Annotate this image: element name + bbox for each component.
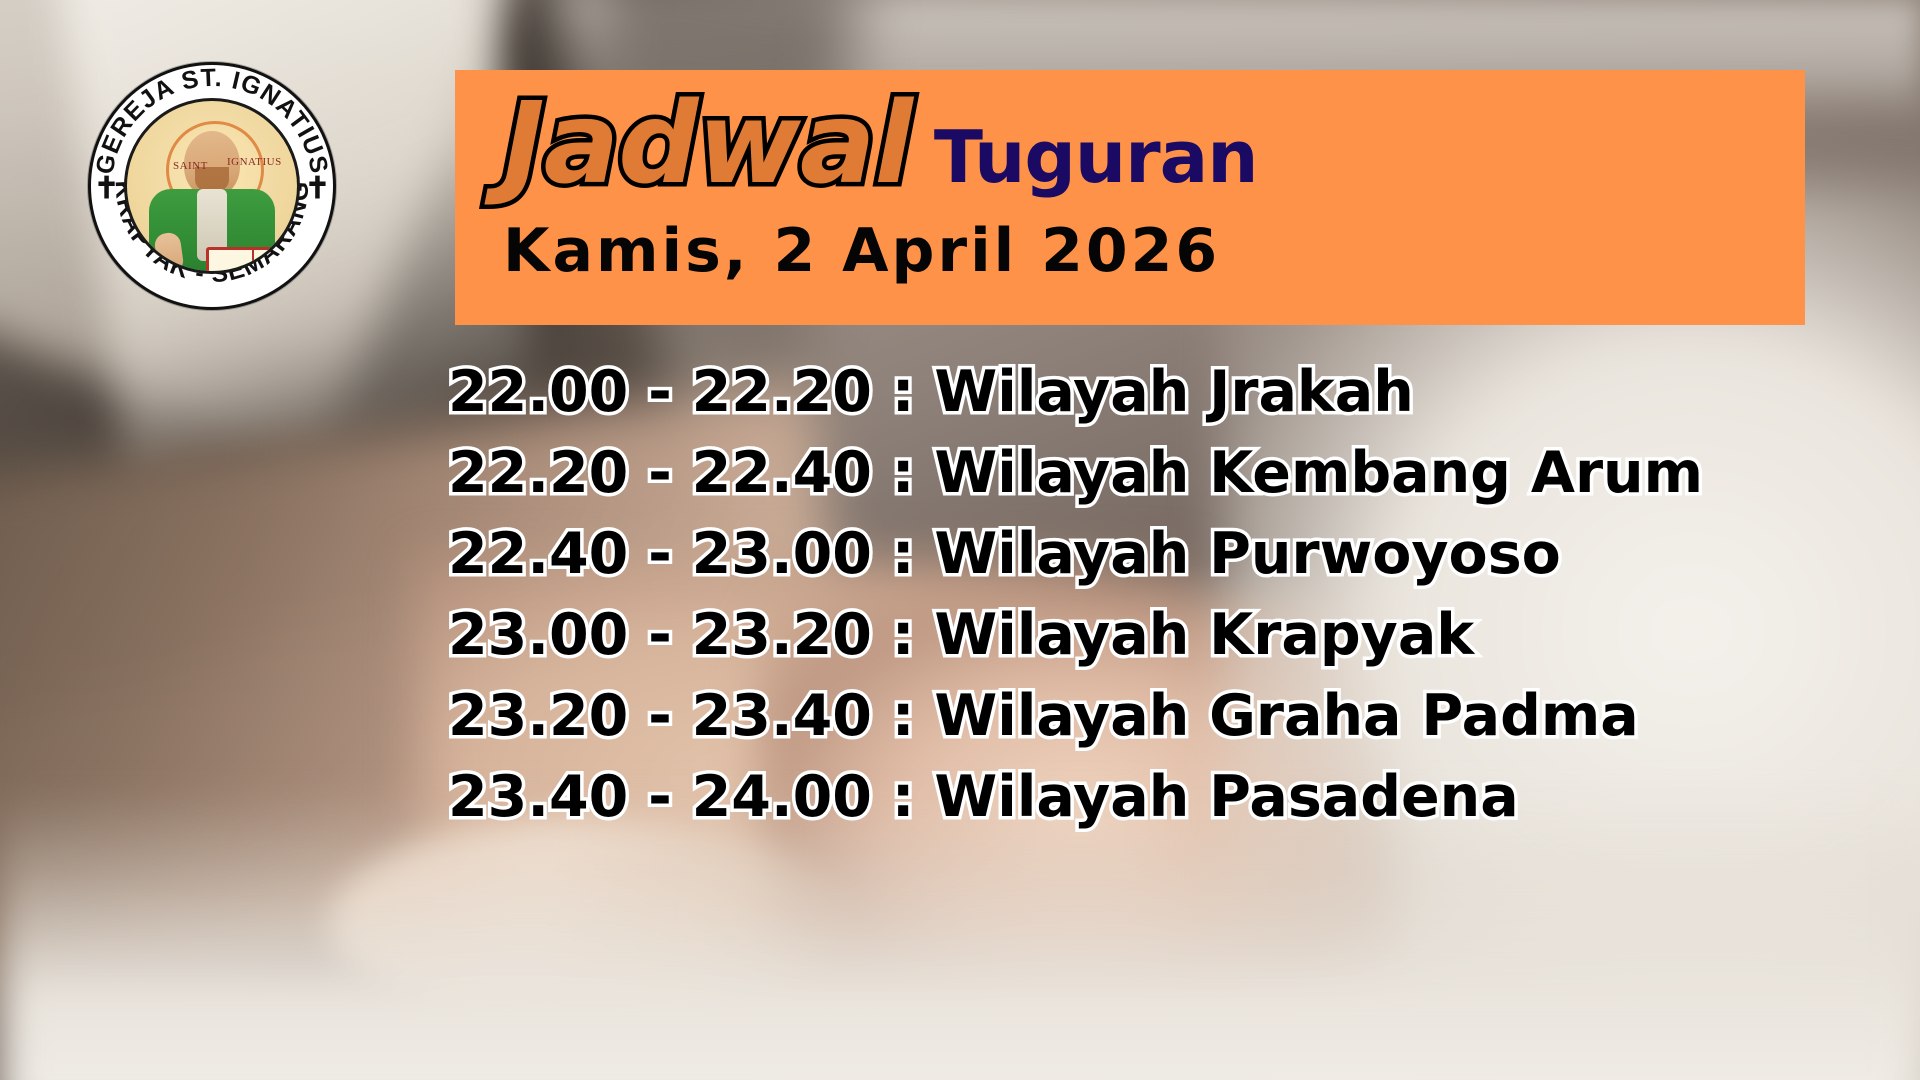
cross-icon-left: ✝ — [94, 174, 119, 204]
event-date: Kamis, 2 April 2026 — [503, 216, 1220, 286]
schedule-row: 22.40 - 23.00 : Wilayah Purwoyoso — [448, 514, 1908, 595]
logo-saint-label-left: SAINT — [173, 161, 199, 173]
logo-inner-medallion: SAINT IGNATIUS — [124, 98, 300, 274]
schedule-row: 23.20 - 23.40 : Wilayah Graha Padma — [448, 676, 1908, 757]
schedule-list: 22.00 - 22.20 : Wilayah Jrakah 22.20 - 2… — [448, 352, 1908, 838]
schedule-row: 23.40 - 24.00 : Wilayah Pasadena — [448, 757, 1908, 838]
cross-icon-right: ✝ — [305, 174, 330, 204]
open-book-icon — [206, 247, 298, 274]
poster-canvas: GEREJA ST. IGNATIUS KRAPYAK - SEMARANG ✝… — [0, 0, 1920, 1080]
schedule-row: 23.00 - 23.20 : Wilayah Krapyak — [448, 595, 1908, 676]
schedule-row: 22.20 - 22.40 : Wilayah Kembang Arum — [448, 433, 1908, 514]
parish-logo: GEREJA ST. IGNATIUS KRAPYAK - SEMARANG ✝… — [88, 62, 336, 310]
header-title-row: Jadwal Tuguran — [503, 76, 1257, 213]
page-title-sub: Tuguran — [934, 121, 1258, 193]
header-banner: Jadwal Tuguran Kamis, 2 April 2026 — [455, 70, 1805, 325]
schedule-row: 22.00 - 22.20 : Wilayah Jrakah — [448, 352, 1908, 433]
logo-saint-label-right: IGNATIUS — [227, 157, 253, 169]
page-title-main: Jadwal — [503, 76, 912, 213]
